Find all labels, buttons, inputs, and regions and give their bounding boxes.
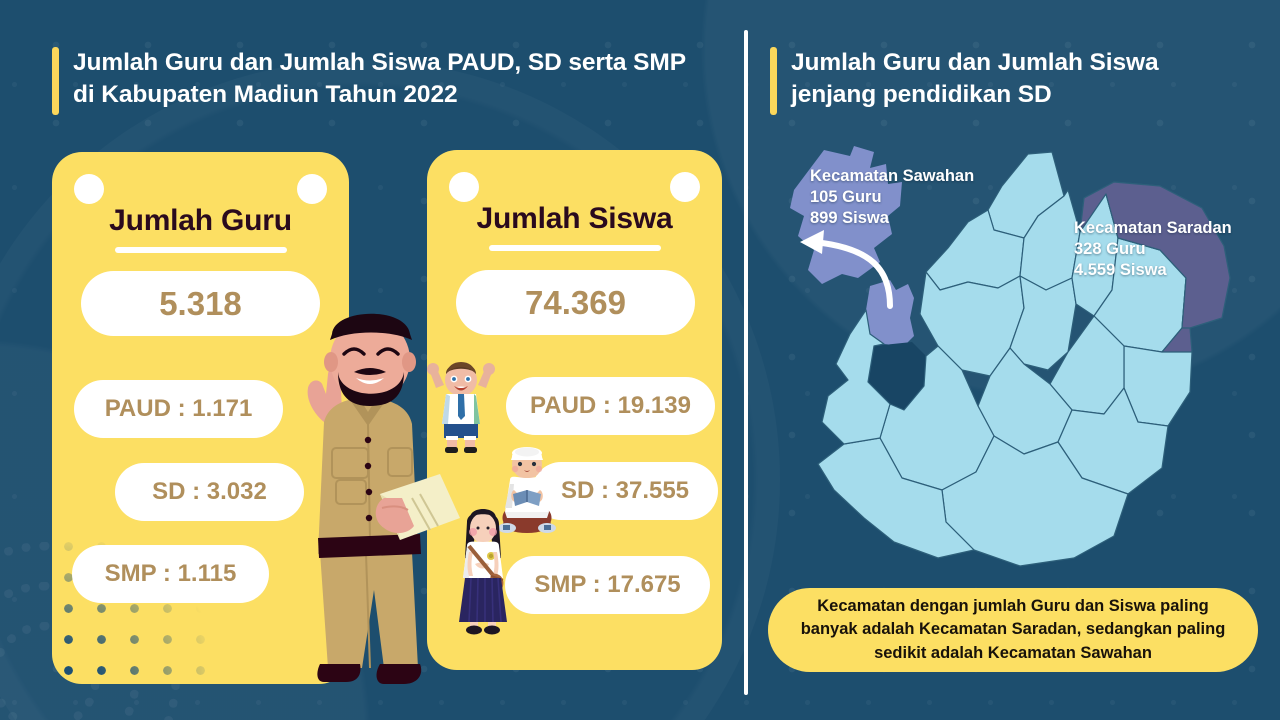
saradan-siswa: 4.559 Siswa	[1074, 260, 1232, 281]
card-punch-hole-right	[670, 172, 700, 202]
sawahan-siswa: 899 Siswa	[810, 208, 974, 229]
sawahan-guru: 105 Guru	[810, 187, 974, 208]
siswa-smp-pill: SMP : 17.675	[505, 556, 710, 614]
card-heading-guru: Jumlah Guru	[52, 204, 349, 238]
card-heading-rule	[115, 247, 287, 253]
guru-paud-pill: PAUD : 1.171	[74, 380, 283, 438]
panel-divider	[744, 30, 748, 695]
card-punch-hole-left	[74, 174, 104, 204]
map-caption-text: Kecamatan dengan jumlah Guru dan Siswa p…	[790, 595, 1236, 665]
stat-card-guru: Jumlah Guru 5.318 PAUD : 1.171 SD : 3.03…	[52, 152, 349, 684]
map-caption-box: Kecamatan dengan jumlah Guru dan Siswa p…	[768, 588, 1258, 672]
card-heading-rule	[489, 245, 661, 251]
left-panel-title: Jumlah Guru dan Jumlah Siswa PAUD, SD se…	[52, 47, 713, 115]
guru-smp-pill: SMP : 1.115	[72, 545, 269, 603]
infographic-canvas: Jumlah Guru dan Jumlah Siswa PAUD, SD se…	[0, 0, 1280, 720]
siswa-paud-pill: PAUD : 19.139	[506, 377, 715, 435]
sawahan-name: Kecamatan Sawahan	[810, 166, 974, 187]
siswa-sd-pill: SD : 37.555	[532, 462, 718, 520]
right-title-text: Jumlah Guru dan Jumlah Siswa jenjang pen…	[791, 47, 1231, 112]
siswa-total-pill: 74.369	[456, 270, 695, 335]
saradan-guru: 328 Guru	[1074, 239, 1232, 260]
map-label-saradan: Kecamatan Saradan 328 Guru 4.559 Siswa	[1074, 218, 1232, 281]
map-kabupaten-madiun: Kecamatan Sawahan 105 Guru 899 Siswa Kec…	[762, 138, 1262, 578]
saradan-name: Kecamatan Saradan	[1074, 218, 1232, 239]
right-panel-title: Jumlah Guru dan Jumlah Siswa jenjang pen…	[770, 47, 1231, 115]
stat-card-siswa: Jumlah Siswa 74.369 PAUD : 19.139 SD : 3…	[427, 150, 722, 670]
title-accent-bar	[52, 47, 59, 115]
map-label-sawahan: Kecamatan Sawahan 105 Guru 899 Siswa	[810, 166, 974, 229]
title-accent-bar	[770, 47, 777, 115]
card-punch-hole-right	[297, 174, 327, 204]
card-heading-siswa: Jumlah Siswa	[427, 202, 722, 236]
left-title-text: Jumlah Guru dan Jumlah Siswa PAUD, SD se…	[73, 47, 713, 112]
card-punch-hole-left	[449, 172, 479, 202]
guru-sd-pill: SD : 3.032	[115, 463, 304, 521]
guru-total-pill: 5.318	[81, 271, 320, 336]
